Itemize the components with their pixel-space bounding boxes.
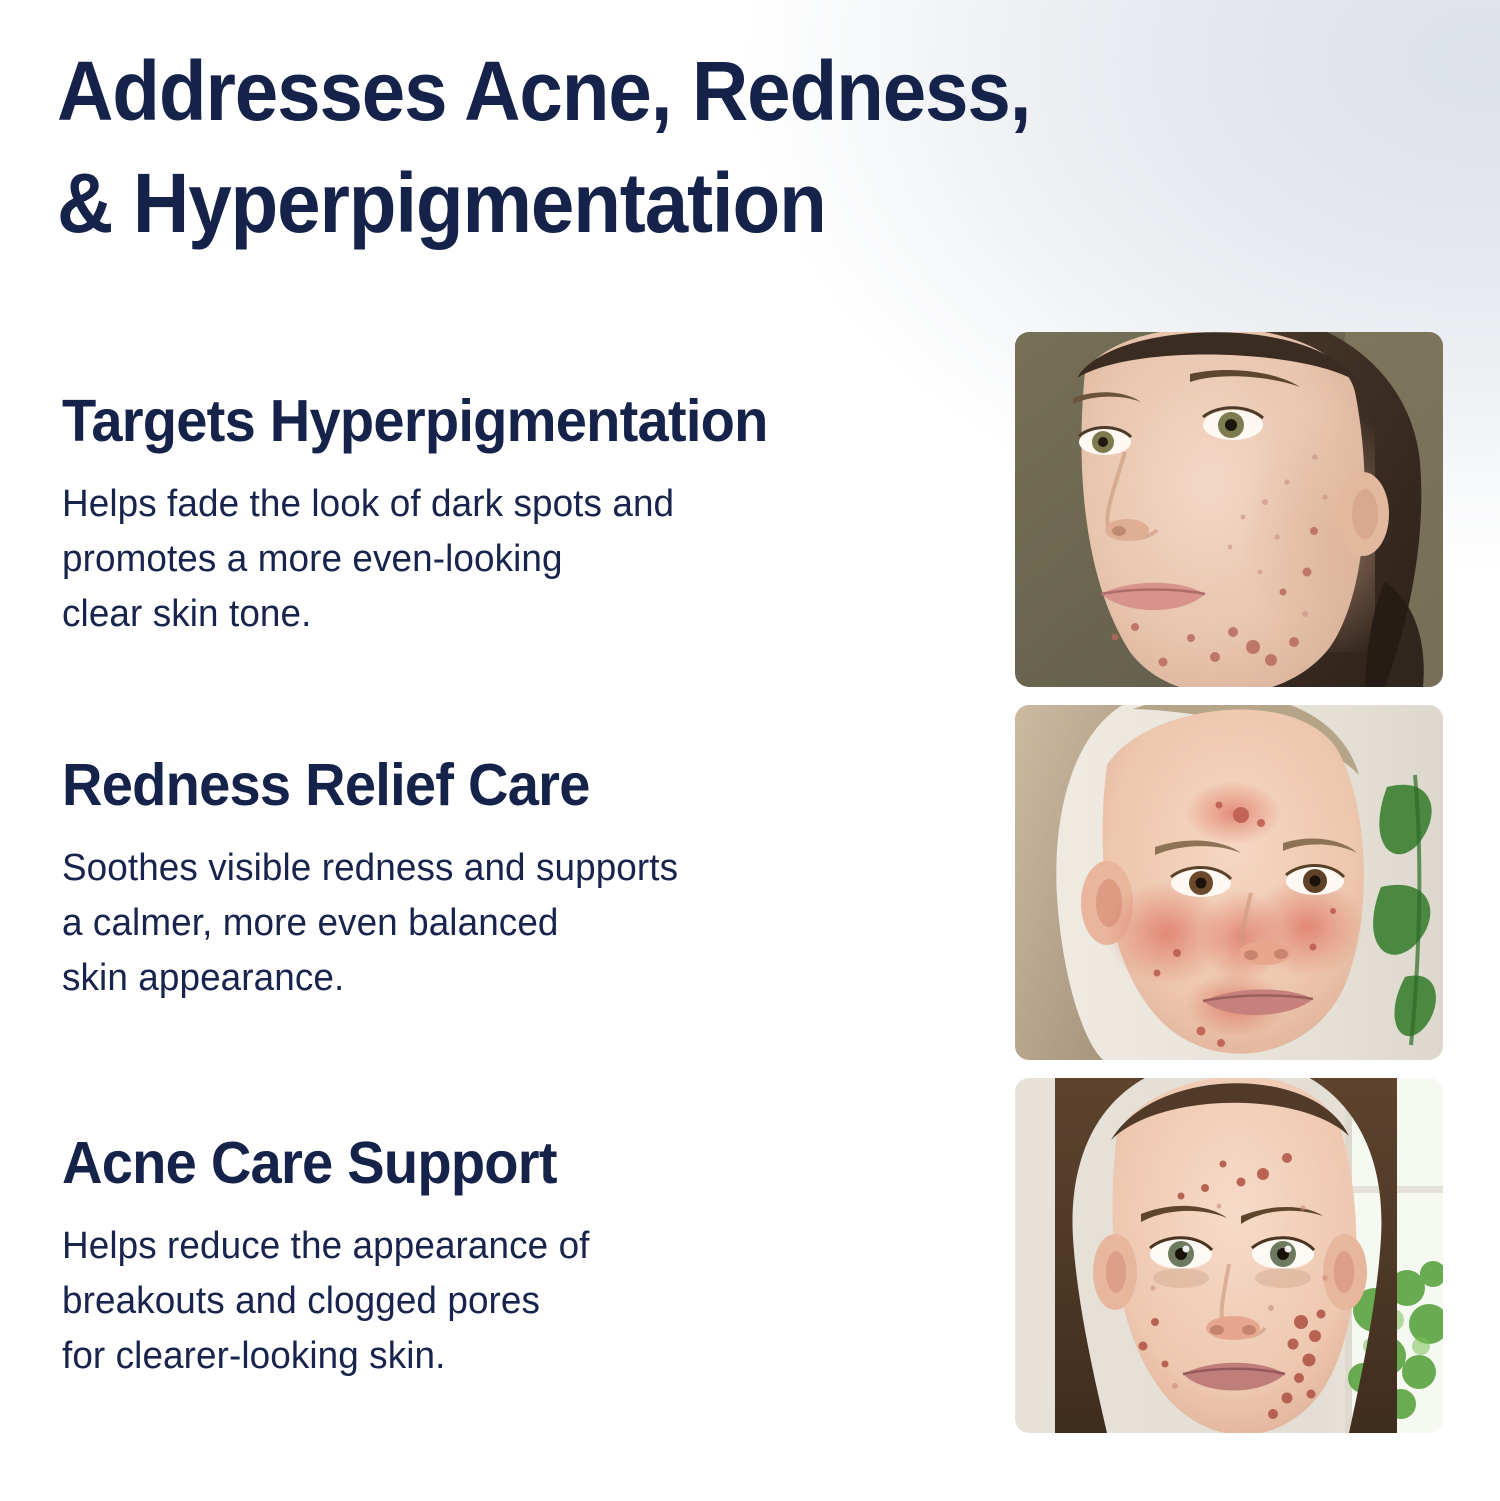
hyperpigmentation-photo bbox=[1015, 332, 1443, 687]
promo-graphic: Addresses Acne, Redness, & Hyperpigmenta… bbox=[0, 0, 1500, 1501]
feature-heading-acne: Acne Care Support bbox=[62, 1134, 955, 1193]
feature-body-acne: Helps reduce the appearance of breakouts… bbox=[62, 1219, 974, 1384]
feature-body-redness: Soothes visible redness and supports a c… bbox=[62, 841, 974, 1006]
acne-photo-illustration bbox=[1015, 1078, 1443, 1433]
feature-heading-hyperpigmentation: Targets Hyperpigmentation bbox=[62, 392, 955, 451]
page-title: Addresses Acne, Redness, & Hyperpigmenta… bbox=[57, 36, 1154, 259]
feature-block-hyperpigmentation: Targets Hyperpigmentation Helps fade the… bbox=[62, 392, 1002, 642]
feature-block-redness: Redness Relief Care Soothes visible redn… bbox=[62, 756, 1002, 1006]
feature-heading-redness: Redness Relief Care bbox=[62, 756, 955, 815]
hyperpigmentation-photo-illustration bbox=[1015, 332, 1443, 687]
redness-photo-illustration bbox=[1015, 705, 1443, 1060]
feature-block-acne: Acne Care Support Helps reduce the appea… bbox=[62, 1134, 1002, 1384]
feature-body-hyperpigmentation: Helps fade the look of dark spots and pr… bbox=[62, 477, 974, 642]
redness-photo bbox=[1015, 705, 1443, 1060]
acne-photo bbox=[1015, 1078, 1443, 1433]
